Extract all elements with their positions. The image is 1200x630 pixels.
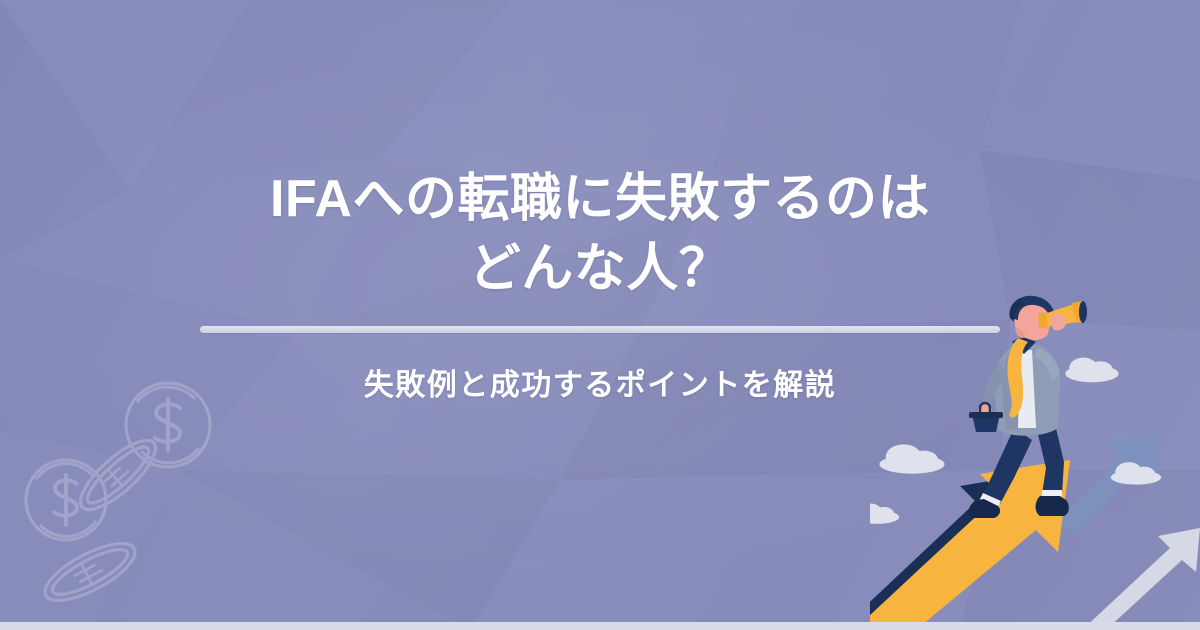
light-arrow-up [1082,528,1200,630]
dollar-coins-decoration [18,370,248,620]
banner-canvas: IFAへの転職に失敗するのは どんな人？ 失敗例と成功するポイントを解説 [0,0,1200,630]
bottom-accent-strip [0,622,1200,630]
businessman-on-growth-arrows-illustration [870,290,1200,630]
blue-arrow-background [1058,432,1162,536]
